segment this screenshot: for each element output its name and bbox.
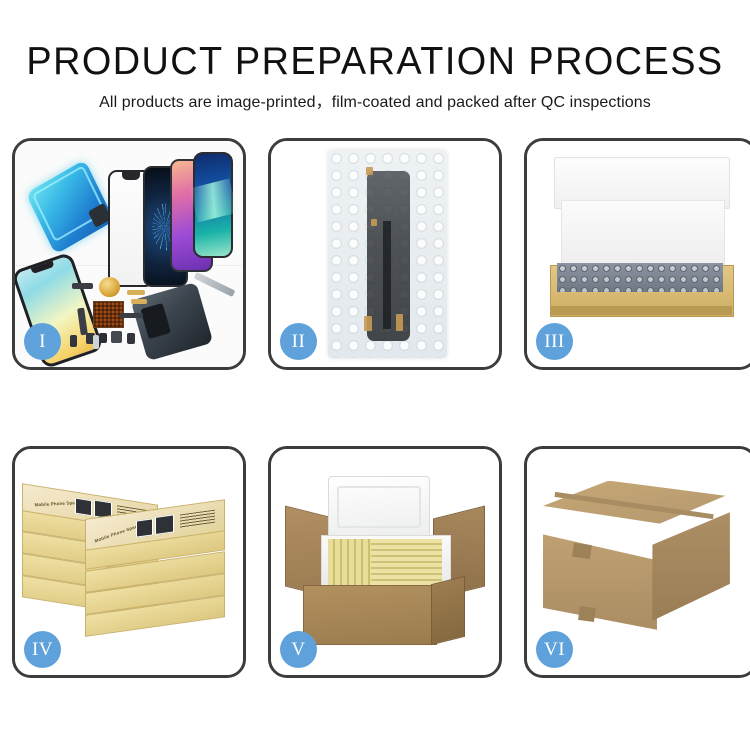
flex-cable-icon: [131, 299, 147, 304]
flex-cable-icon: [127, 290, 145, 295]
speaker-coil-icon: [99, 277, 120, 297]
page-subtitle: All products are image-printed，film-coat…: [0, 84, 750, 113]
yellow-boxes-row-icon: [371, 539, 442, 584]
box-product-photo: [136, 518, 153, 537]
foam-lid-icon: [328, 476, 430, 539]
carton-tape-icon: [579, 606, 597, 622]
bubble-wrap-bag-icon: [328, 150, 447, 358]
flex-cable-icon: [72, 283, 93, 289]
small-component-icon: [111, 331, 122, 343]
tape-strip-icon: [364, 316, 372, 331]
carton-body-icon: [303, 585, 437, 646]
phone-teal-screen-icon: [193, 152, 233, 258]
bubble-wrap-filler-icon: [557, 263, 723, 292]
tape-strip-icon: [396, 314, 403, 331]
step-badge-3: III: [536, 323, 573, 360]
step-badge-5: V: [280, 631, 317, 668]
step-badge-2: II: [280, 323, 317, 360]
step-badge-1: I: [24, 323, 61, 360]
step-badge-4: IV: [24, 631, 61, 668]
step-panel-5: V: [268, 446, 502, 678]
foam-sheet-icon: [561, 200, 725, 272]
box-spec-lines: [180, 509, 215, 528]
step-panel-1: I: [12, 138, 246, 370]
flex-cable-icon: [120, 313, 143, 318]
step-panel-4: Mobile Phone Spare Parts Mobile Phone Sp…: [12, 446, 246, 678]
small-component-icon: [127, 333, 135, 344]
box-product-photo: [155, 514, 174, 535]
step-panel-6: VI: [524, 446, 750, 678]
carton-tape-icon: [572, 543, 592, 559]
wrapped-flex-cable-icon: [383, 221, 391, 329]
step-panel-3: III: [524, 138, 750, 370]
small-component-icon: [99, 333, 107, 343]
tape-strip-icon: [366, 167, 373, 175]
page-title: PRODUCT PREPARATION PROCESS: [11, 0, 739, 84]
small-component-icon: [93, 335, 100, 349]
process-step-grid: I II: [12, 138, 738, 678]
header: PRODUCT PREPARATION PROCESS All products…: [0, 0, 750, 113]
carton-side-icon: [431, 576, 465, 645]
small-component-icon: [70, 335, 77, 346]
box-front-edge-icon: [550, 306, 732, 315]
retail-box-stack: Mobile Phone Spare Parts Mobile Phone Sp…: [22, 472, 232, 657]
tape-strip-icon: [371, 219, 377, 226]
step-panel-2: II: [268, 138, 502, 370]
box-product-photo: [75, 498, 92, 516]
product-preparation-infographic: PRODUCT PREPARATION PROCESS All products…: [0, 0, 750, 750]
step-badge-6: VI: [536, 631, 573, 668]
